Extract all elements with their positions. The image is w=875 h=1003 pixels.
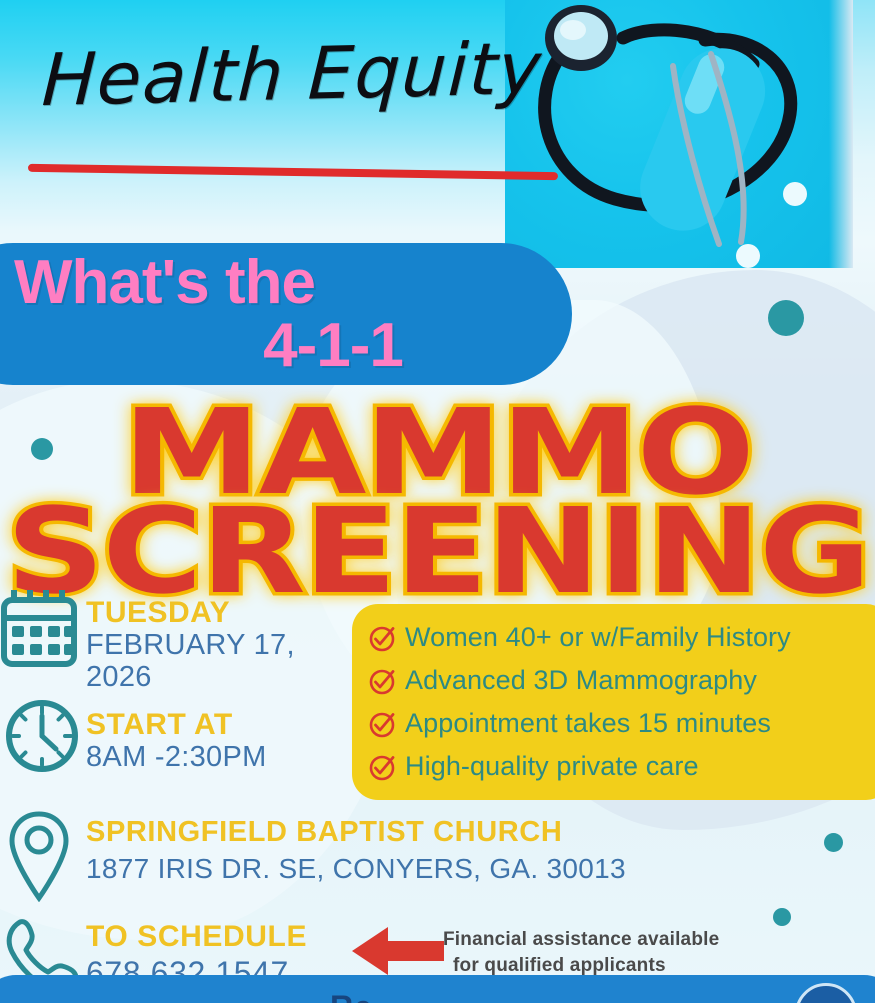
decorative-dot <box>773 908 791 926</box>
date-value: FEBRUARY 17, 2026 <box>86 629 356 694</box>
eligibility-checklist: Women 40+ or w/Family History Advanced 3… <box>352 604 875 800</box>
banner-line-1: What's the <box>14 251 532 315</box>
page-title: Health Equity <box>40 26 544 122</box>
start-label: START AT <box>86 708 366 741</box>
main-headline: MAMMO SCREENING <box>0 398 875 605</box>
headline-line-2: SCREENING <box>0 497 875 606</box>
check-circle-icon <box>368 667 396 695</box>
footer-strip-background <box>0 975 875 1003</box>
header-photo-band: Health Equity <box>0 0 875 268</box>
decorative-dot <box>768 300 804 336</box>
health-equity-flyer: Health Equity What's the 4-1-1 MAMMO SCR… <box>0 0 875 1003</box>
checklist-label: Advanced 3D Mammography <box>405 665 757 696</box>
stethoscope-icon <box>505 0 855 268</box>
checklist-label: Appointment takes 15 minutes <box>405 708 771 739</box>
checklist-item: Women 40+ or w/Family History <box>368 616 875 659</box>
check-circle-icon <box>368 710 396 738</box>
venue-name: SPRINGFIELD BAPTIST CHURCH <box>86 816 626 849</box>
calendar-icon <box>0 588 78 674</box>
checklist-item: Advanced 3D Mammography <box>368 659 875 702</box>
check-circle-icon <box>368 624 396 652</box>
checklist-label: High-quality private care <box>405 751 699 782</box>
event-date-block: TUESDAY FEBRUARY 17, 2026 <box>86 596 356 694</box>
decorative-dot <box>824 833 843 852</box>
location-pin-icon <box>4 810 74 902</box>
footer-strip: Re <box>0 967 875 1003</box>
schedule-label: TO SCHEDULE <box>86 920 307 954</box>
time-value: 8AM -2:30PM <box>86 741 366 773</box>
financial-note-line-1: Financial assistance available <box>443 927 719 953</box>
whats-the-411-banner: What's the 4-1-1 <box>0 243 572 385</box>
checklist-item: High-quality private care <box>368 745 875 788</box>
venue-address: 1877 IRIS DR. SE, CONYERS, GA. 30013 <box>86 852 626 885</box>
checklist-label: Women 40+ or w/Family History <box>405 622 791 653</box>
venue-block: SPRINGFIELD BAPTIST CHURCH 1877 IRIS DR.… <box>86 816 626 885</box>
banner-line-2: 4-1-1 <box>14 315 532 377</box>
check-circle-icon <box>368 753 396 781</box>
checklist-item: Appointment takes 15 minutes <box>368 702 875 745</box>
footer-text: Re <box>330 989 373 1003</box>
day-label: TUESDAY <box>86 596 356 629</box>
clock-icon <box>4 694 80 778</box>
event-time-block: START AT 8AM -2:30PM <box>86 708 366 773</box>
